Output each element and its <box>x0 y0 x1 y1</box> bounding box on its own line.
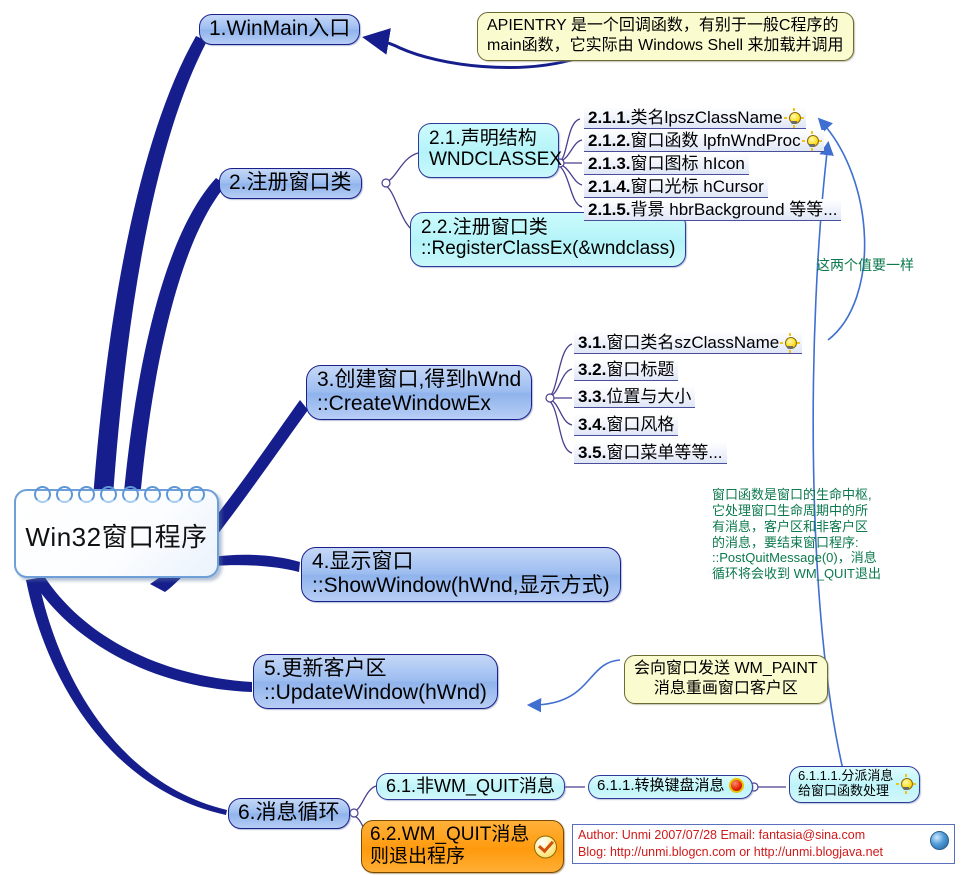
lightbulb-icon <box>786 110 802 126</box>
green-note-same-value: 这两个值要一样 <box>816 257 914 274</box>
leaf-3-5[interactable]: 3.5.窗口菜单等等... <box>574 442 727 464</box>
node-4-line2: ::ShowWindow(hWnd,显示方式) <box>312 574 610 598</box>
credit-line1: Author: Unmi 2007/07/28 Email: fantasia@… <box>578 827 950 844</box>
node-6-message-loop[interactable]: 6.消息循环 <box>228 798 350 829</box>
globe-icon <box>930 831 949 850</box>
note-apientry[interactable]: APIENTRY 是一个回调函数，有别于一般C程序的 main函数，它实际由 W… <box>477 12 854 61</box>
lightbulb-icon <box>898 776 914 792</box>
node-2-1-line2: WNDCLASSEX <box>429 149 548 170</box>
leaf-2-1-1-num: 2.1.1. <box>588 108 631 127</box>
node-1-winmain[interactable]: 1.WinMain入口 <box>199 14 360 45</box>
binder-ring <box>166 486 183 503</box>
leaf-3-1[interactable]: 3.1.窗口类名szClassName <box>574 332 802 354</box>
leaf-2-1-4-text: 窗口光标 hCursor <box>631 177 764 196</box>
leaf-3-3-text: 位置与大小 <box>606 387 691 406</box>
binder-ring <box>188 486 205 503</box>
node-5-line2: ::UpdateWindow(hWnd) <box>264 681 487 705</box>
node-4-line1: 4.显示窗口 <box>312 550 610 574</box>
lightbulb-icon <box>782 335 798 351</box>
binder-ring <box>34 486 51 503</box>
node-3-create-window[interactable]: 3.创建窗口,得到hWnd ::CreateWindowEx <box>306 365 532 420</box>
mindmap-canvas: Win32窗口程序 1.WinMain入口 2.注册窗口类 3.创建窗口,得到h… <box>0 0 965 875</box>
leaf-3-5-text: 窗口菜单等等... <box>606 443 722 462</box>
arrow-wmpaint-to-update <box>530 660 620 705</box>
leaf-2-1-1[interactable]: 2.1.1.类名lpszClassName <box>584 107 806 129</box>
leaf-3-2[interactable]: 3.2.窗口标题 <box>574 359 678 381</box>
leaf-2-1-5-num: 2.1.5. <box>588 200 631 219</box>
root-label: Win32窗口程序 <box>16 517 217 554</box>
note-wm-paint-line1: 会向窗口发送 WM_PAINT <box>634 659 818 679</box>
node-5-update-window[interactable]: 5.更新客户区 ::UpdateWindow(hWnd) <box>253 654 498 709</box>
leaf-2-1-4[interactable]: 2.1.4.窗口光标 hCursor <box>584 176 768 198</box>
leaf-3-3[interactable]: 3.3.位置与大小 <box>574 386 695 408</box>
binder-ring <box>144 486 161 503</box>
green-note-wndproc: 窗口函数是窗口的生命中枢, 它处理窗口生命周期中的所 有消息，客户区和非客户区 … <box>712 487 881 582</box>
leaf-2-1-2-text: 窗口函数 lpfnWndProc <box>631 131 801 150</box>
leaf-3-2-text: 窗口标题 <box>606 360 674 379</box>
node-6-2-line1: 6.2.WM_QUIT消息 <box>370 824 529 846</box>
node-5-line1: 5.更新客户区 <box>264 657 487 681</box>
leaf-3-4-text: 窗口风格 <box>606 415 674 434</box>
binder-ring <box>122 486 139 503</box>
leaf-2-1-3[interactable]: 2.1.3.窗口图标 hIcon <box>584 153 749 175</box>
leaf-3-3-num: 3.3. <box>578 387 606 406</box>
author-credit[interactable]: Author: Unmi 2007/07/28 Email: fantasia@… <box>572 824 955 864</box>
leaf-3-4-num: 3.4. <box>578 415 606 434</box>
leaf-2-1-4-num: 2.1.4. <box>588 177 631 196</box>
binder-ring <box>78 486 95 503</box>
node-2-1-line1: 2.1.声明结构 <box>429 128 548 149</box>
node-4-show-window[interactable]: 4.显示窗口 ::ShowWindow(hWnd,显示方式) <box>301 547 621 602</box>
leaf-3-4[interactable]: 3.4.窗口风格 <box>574 414 678 436</box>
node-3-line2: ::CreateWindowEx <box>317 392 521 416</box>
leaf-2-1-5-text: 背景 hbrBackground 等等... <box>631 200 838 219</box>
leaf-3-1-text: 窗口类名szClassName <box>606 333 779 352</box>
credit-line2: Blog: http://unmi.blogcn.com or http://u… <box>578 844 950 861</box>
leaf-2-1-3-num: 2.1.3. <box>588 154 631 173</box>
leaf-3-5-num: 3.5. <box>578 443 606 462</box>
node-2-2-line2: ::RegisterClassEx(&wndclass) <box>421 238 675 259</box>
binder-ring <box>100 486 117 503</box>
leaf-3-2-num: 3.2. <box>578 360 606 379</box>
leaf-2-1-1-text: 类名lpszClassName <box>631 108 783 127</box>
leaf-2-1-2[interactable]: 2.1.2.窗口函数 lpfnWndProc <box>584 130 824 152</box>
binder-ring <box>56 486 73 503</box>
check-circle-icon <box>534 835 557 858</box>
note-wm-paint[interactable]: 会向窗口发送 WM_PAINT 消息重画窗口客户区 <box>624 655 828 704</box>
node-6-2-line2: 则退出程序 <box>370 846 529 868</box>
node-6-1-1-label: 6.1.1.转换键盘消息 <box>597 777 725 794</box>
node-6-1-1-1-line1: 6.1.1.1.分派消息 <box>798 769 893 784</box>
node-6-1-1-1-dispatch-message[interactable]: 6.1.1.1.分派消息 给窗口函数处理 <box>789 766 920 803</box>
node-6-1-non-wmquit[interactable]: 6.1.非WM_QUIT消息 <box>376 773 565 800</box>
note-apientry-line1: APIENTRY 是一个回调函数，有别于一般C程序的 <box>487 16 844 36</box>
note-apientry-line2: main函数，它实际由 Windows Shell 来加载并调用 <box>487 36 844 56</box>
node-6-1-1-translate-message[interactable]: 6.1.1.转换键盘消息 <box>588 775 753 799</box>
node-2-register-class[interactable]: 2.注册窗口类 <box>219 168 362 199</box>
leaf-2-1-3-text: 窗口图标 hIcon <box>631 154 745 173</box>
leaf-3-1-num: 3.1. <box>578 333 606 352</box>
leaf-2-1-5[interactable]: 2.1.5.背景 hbrBackground 等等... <box>584 199 841 221</box>
root-node[interactable]: Win32窗口程序 <box>14 489 219 578</box>
node-3-line1: 3.创建窗口,得到hWnd <box>317 368 521 392</box>
node-2-1-declare-struct[interactable]: 2.1.声明结构 WNDCLASSEX <box>418 123 559 178</box>
note-wm-paint-line2: 消息重画窗口客户区 <box>634 679 818 699</box>
red-dot-icon <box>729 778 744 793</box>
leaf-2-1-2-num: 2.1.2. <box>588 131 631 150</box>
lightbulb-icon <box>804 133 820 149</box>
node-6-1-1-1-line2: 给窗口函数处理 <box>798 784 893 799</box>
node-6-2-wmquit-exit[interactable]: 6.2.WM_QUIT消息 则退出程序 <box>361 820 564 873</box>
